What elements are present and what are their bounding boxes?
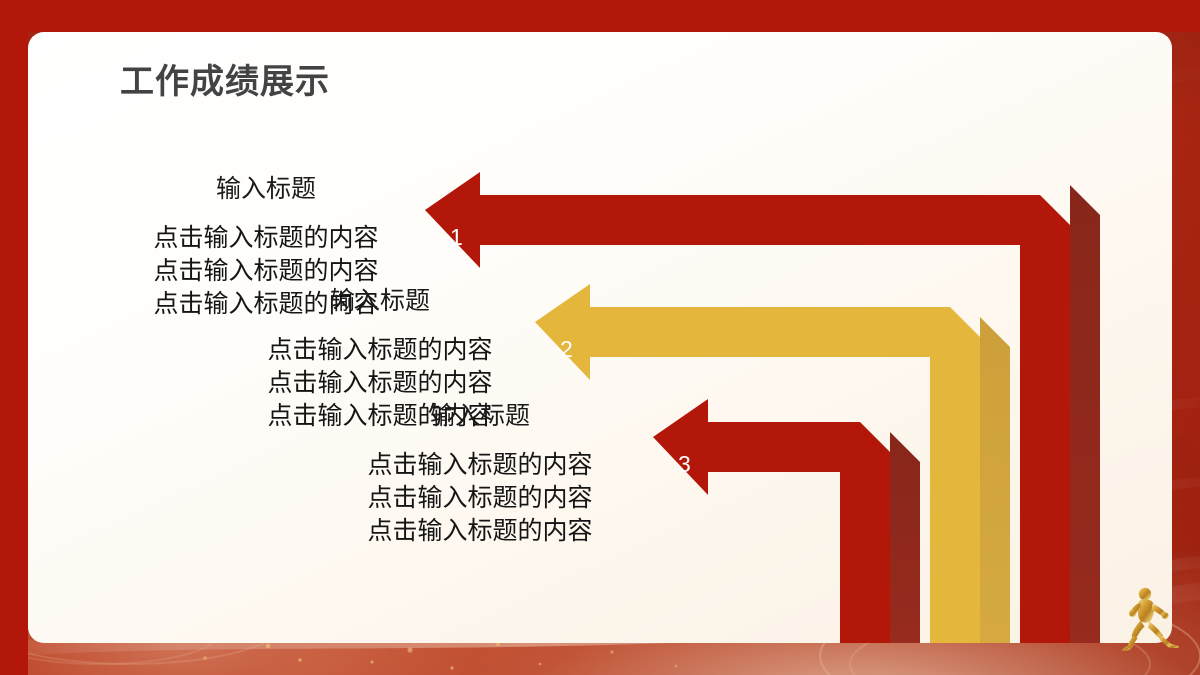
arrow-2-number: 2 <box>560 338 573 361</box>
arrow-diagram <box>28 32 1172 643</box>
group-3-line-1: 点击输入标题的内容 <box>310 449 650 482</box>
group-1-line-1: 点击输入标题的内容 <box>96 222 436 255</box>
arrow-1-number: 1 <box>450 226 463 249</box>
group-3-line-3: 点击输入标题的内容 <box>310 515 650 548</box>
arrow-3-number: 3 <box>678 453 691 476</box>
text-group-3: 输入标题 点击输入标题的内容 点击输入标题的内容 点击输入标题的内容 <box>310 402 650 549</box>
red-top-bar <box>0 0 1200 32</box>
slide: 工作成绩展示 <box>0 0 1200 675</box>
group-3-heading: 输入标题 <box>310 402 650 431</box>
group-2-line-2: 点击输入标题的内容 <box>210 367 550 400</box>
content-card: 工作成绩展示 <box>28 32 1172 643</box>
group-2-line-1: 点击输入标题的内容 <box>210 334 550 367</box>
running-man-svg <box>1118 585 1182 651</box>
group-3-line-2: 点击输入标题的内容 <box>310 482 650 515</box>
running-man-icon <box>1118 585 1182 651</box>
red-left-bar <box>0 0 28 675</box>
group-1-heading: 输入标题 <box>96 175 436 204</box>
arrow-3-shape <box>653 399 920 643</box>
group-1-line-2: 点击输入标题的内容 <box>96 255 436 288</box>
group-2-heading: 输入标题 <box>210 287 550 316</box>
